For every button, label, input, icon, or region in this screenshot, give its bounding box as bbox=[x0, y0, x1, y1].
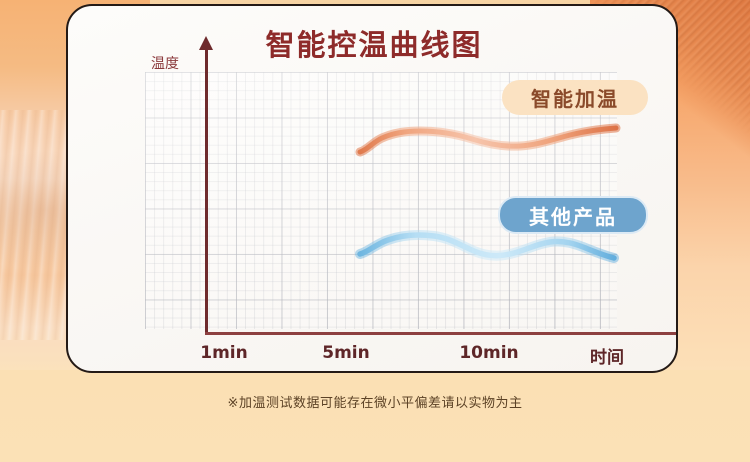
x-tick-label-5min: 5min bbox=[322, 343, 369, 363]
chart-card: 智能控温曲线图 温度 42°C 32°C 22°C 12°C 1min 5min… bbox=[66, 4, 678, 373]
x-axis-title: 时间 bbox=[590, 343, 624, 368]
y-axis-title: 温度 bbox=[151, 53, 179, 73]
y-axis-line bbox=[205, 48, 208, 334]
x-tick-label-1min: 1min bbox=[200, 343, 247, 363]
legend-badge-other-product[interactable]: 其他产品 bbox=[498, 196, 648, 234]
y-axis-arrow-icon bbox=[199, 36, 213, 50]
legend-badge-smart-heating[interactable]: 智能加温 bbox=[502, 80, 648, 115]
x-axis-line bbox=[205, 332, 678, 335]
background-bottom-band bbox=[0, 370, 750, 462]
disclaimer-note: ※加温测试数据可能存在微小平偏差请以实物为主 bbox=[0, 392, 750, 411]
legend-badge-other-product-label: 其他产品 bbox=[529, 201, 617, 230]
x-tick-label-10min: 10min bbox=[459, 343, 518, 363]
screenshot-root: 智能控温曲线图 温度 42°C 32°C 22°C 12°C 1min 5min… bbox=[0, 0, 750, 462]
legend-badge-smart-heating-label: 智能加温 bbox=[531, 83, 619, 112]
